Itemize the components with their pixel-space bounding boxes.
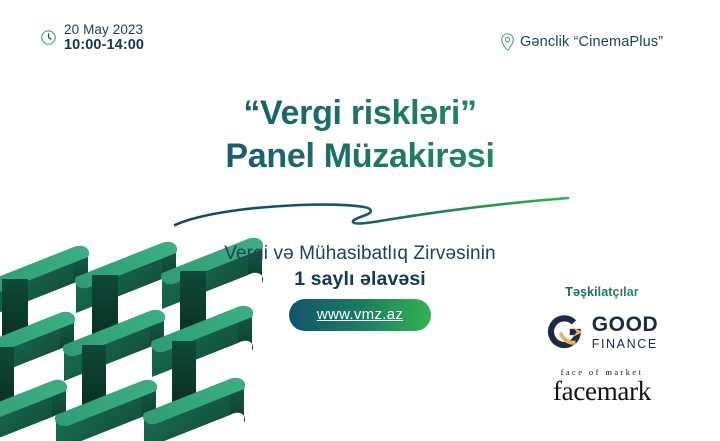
event-venue: Gənclik “CinemaPlus”	[500, 33, 663, 51]
poster-subtitle: Vergi və Mühasibatlıq Zirvəsinin 1 saylı…	[0, 243, 720, 291]
good-finance-word-bottom: FINANCE	[592, 338, 658, 351]
event-poster: 20 May 2023 10:00-14:00 Gənclik “CinemaP…	[0, 0, 720, 441]
logo-facemark: face of market facemark	[522, 368, 682, 405]
title-line-2: Panel Müzakirəsi	[0, 135, 720, 178]
location-pin-icon	[500, 33, 515, 51]
swoosh-decoration	[172, 192, 572, 234]
good-finance-word-top: GOOD	[592, 314, 659, 335]
venue-name: Gənclik “CinemaPlus”	[520, 34, 663, 50]
website-url-button[interactable]: www.vmz.az	[289, 299, 431, 331]
organizers-label: Təşkilatçılar	[522, 285, 682, 299]
subtitle-line-1: Vergi və Mühasibatlıq Zirvəsinin	[0, 243, 720, 265]
title-line-1: “Vergi riskləri”	[0, 92, 720, 135]
clock-icon	[40, 29, 57, 46]
poster-header: 20 May 2023 10:00-14:00 Gənclik “CinemaP…	[0, 0, 720, 78]
g-arrow-icon	[546, 312, 586, 352]
facemark-wordmark: facemark	[522, 378, 682, 405]
event-datetime: 20 May 2023 10:00-14:00	[40, 22, 144, 53]
logo-good-finance: GOOD FINANCE	[522, 312, 682, 352]
poster-title: “Vergi riskləri” Panel Müzakirəsi	[0, 92, 720, 177]
event-date: 20 May 2023	[64, 22, 144, 37]
organizers-section: Təşkilatçılar GOOD FINANCE face of marke…	[522, 285, 682, 405]
event-time: 10:00-14:00	[64, 37, 144, 53]
